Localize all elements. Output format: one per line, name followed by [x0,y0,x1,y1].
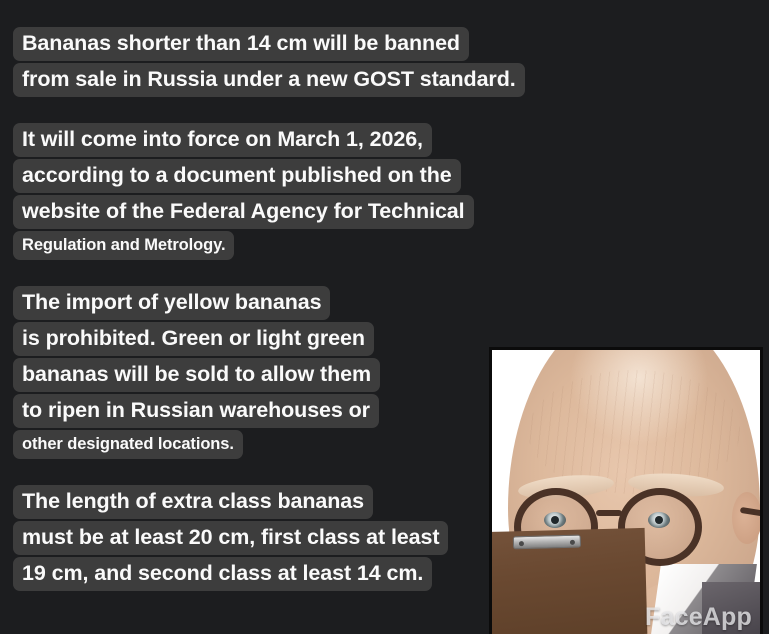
paragraph-2: It will come into force on March 1, 2026… [13,123,600,260]
text-line: other designated locations. [13,430,243,459]
faceapp-watermark: FaceApp [645,603,752,632]
paragraph-3: The import of yellow bananas is prohibit… [13,286,600,459]
text-line: from sale in Russia under a new GOST sta… [13,63,525,97]
text-line: bananas will be sold to allow them [13,358,380,392]
text-line: The import of yellow bananas [13,286,330,320]
text-line: Bananas shorter than 14 cm will be banne… [13,27,469,61]
text-line: Regulation and Metrology. [13,231,234,260]
text-line: is prohibited. Green or light green [13,322,374,356]
paragraph-1: Bananas shorter than 14 cm will be banne… [13,27,600,97]
text-line: website of the Federal Agency for Techni… [13,195,474,229]
text-line: must be at least 20 cm, first class at l… [13,521,448,555]
paragraph-4: The length of extra class bananas must b… [13,485,600,591]
text-line: The length of extra class bananas [13,485,373,519]
text-line: according to a document published on the [13,159,461,193]
screenshot-root: FaceApp Bananas shorter than 14 cm will … [0,0,769,634]
text-line: It will come into force on March 1, 2026… [13,123,432,157]
pupil-right [655,516,663,524]
text-line: 19 cm, and second class at least 14 cm. [13,557,432,591]
text-overlay: Bananas shorter than 14 cm will be banne… [0,0,600,593]
text-line: to ripen in Russian warehouses or [13,394,379,428]
